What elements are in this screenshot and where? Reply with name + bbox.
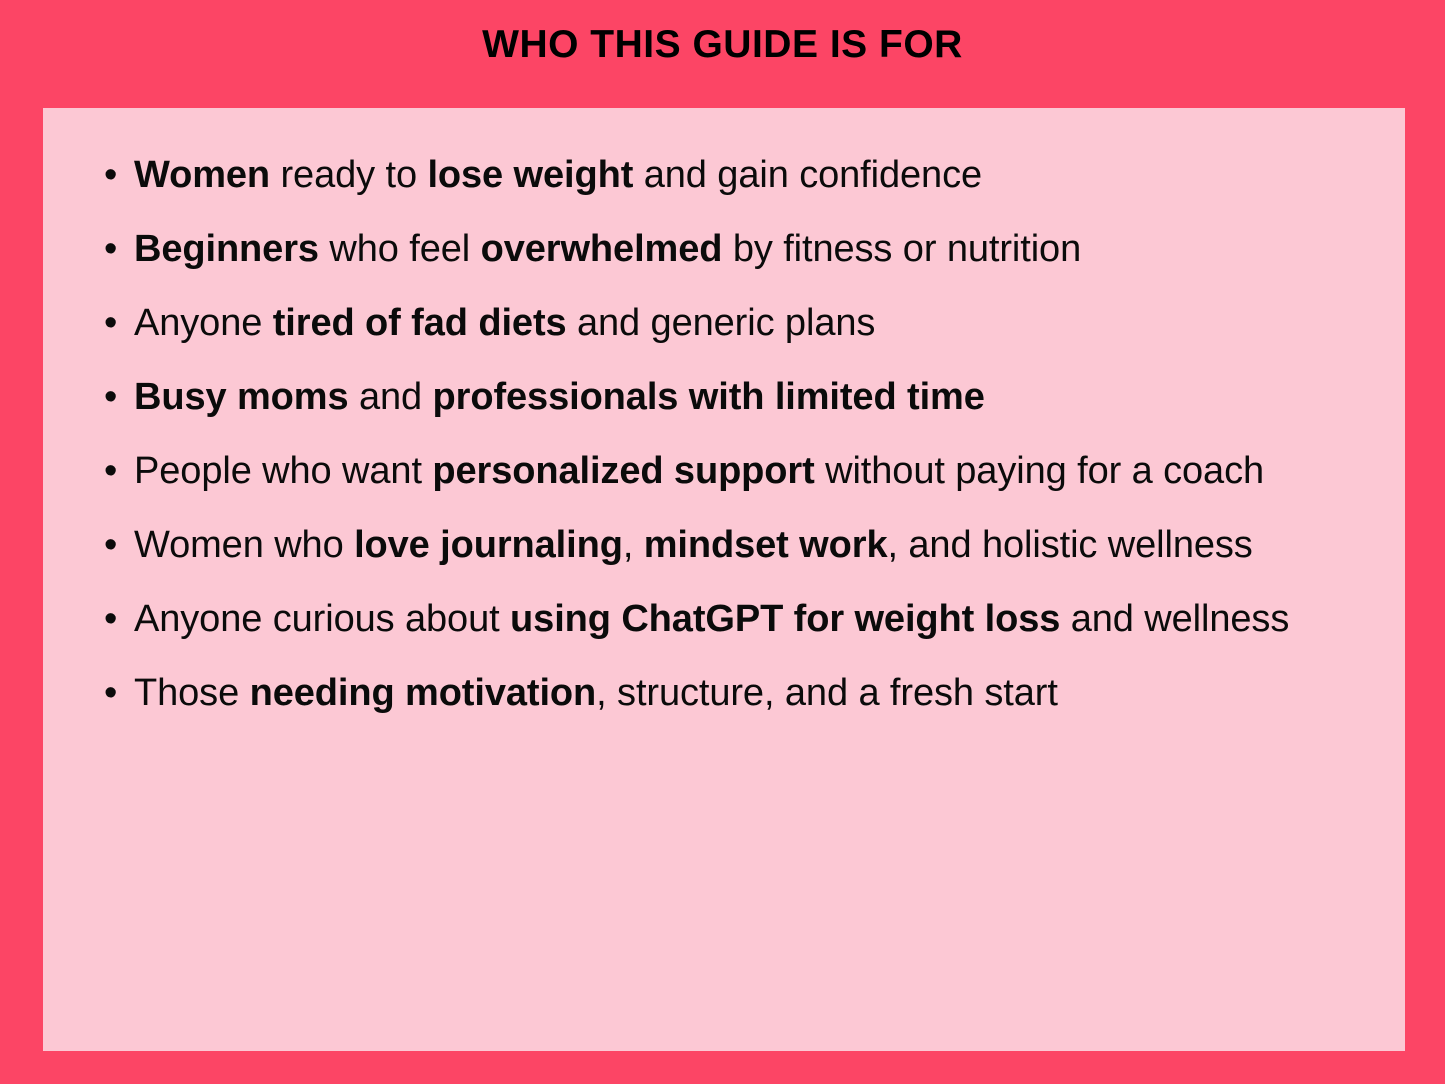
- content-panel: •Women ready to lose weight and gain con…: [43, 108, 1405, 1051]
- emphasis-text: using ChatGPT for weight loss: [510, 598, 1060, 640]
- bullet-point-icon: •: [104, 138, 122, 212]
- audience-bullet-list: •Women ready to lose weight and gain con…: [59, 138, 1389, 730]
- bullet-point-icon: •: [104, 656, 122, 730]
- plain-text: without paying for a coach: [815, 450, 1264, 492]
- list-item-text: Anyone curious about using ChatGPT for w…: [134, 582, 1389, 656]
- plain-text: Anyone: [134, 302, 273, 344]
- bullet-point-icon: •: [104, 434, 122, 508]
- plain-text: ready to: [270, 154, 427, 196]
- bullet-point-icon: •: [104, 582, 122, 656]
- list-item-text: People who want personalized support wit…: [134, 434, 1389, 508]
- emphasis-text: love journaling: [354, 524, 623, 566]
- plain-text: Anyone curious about: [134, 598, 510, 640]
- bullet-point-icon: •: [104, 508, 122, 582]
- list-item-text: Busy moms and professionals with limited…: [134, 360, 1389, 434]
- plain-text: ,: [623, 524, 644, 566]
- plain-text: and wellness: [1060, 598, 1289, 640]
- emphasis-text: mindset work: [644, 524, 888, 566]
- bullet-point-icon: •: [104, 360, 122, 434]
- list-item: •Those needing motivation, structure, an…: [59, 656, 1389, 730]
- emphasis-text: overwhelmed: [481, 228, 723, 270]
- list-item: •Women ready to lose weight and gain con…: [59, 138, 1389, 212]
- emphasis-text: Beginners: [134, 228, 319, 270]
- list-item: •People who want personalized support wi…: [59, 434, 1389, 508]
- plain-text: and: [349, 376, 433, 418]
- emphasis-text: tired of fad diets: [273, 302, 567, 344]
- list-item-text: Women who love journaling, mindset work,…: [134, 508, 1389, 582]
- poster-canvas: WHO THIS GUIDE IS FOR •Women ready to lo…: [0, 0, 1445, 1084]
- plain-text: Those: [134, 672, 250, 714]
- emphasis-text: personalized support: [432, 450, 814, 492]
- emphasis-text: Busy moms: [134, 376, 349, 418]
- plain-text: by fitness or nutrition: [722, 228, 1081, 270]
- plain-text: Women who: [134, 524, 354, 566]
- emphasis-text: professionals with limited time: [433, 376, 985, 418]
- page-title: WHO THIS GUIDE IS FOR: [0, 22, 1445, 68]
- plain-text: , and holistic wellness: [887, 524, 1252, 566]
- emphasis-text: needing motivation: [250, 672, 597, 714]
- list-item-text: Anyone tired of fad diets and generic pl…: [134, 286, 1389, 360]
- list-item-text: Those needing motivation, structure, and…: [134, 656, 1389, 730]
- plain-text: , structure, and a fresh start: [596, 672, 1058, 714]
- plain-text: and gain confidence: [633, 154, 982, 196]
- plain-text: who feel: [319, 228, 481, 270]
- list-item: •Beginners who feel overwhelmed by fitne…: [59, 212, 1389, 286]
- list-item: •Anyone tired of fad diets and generic p…: [59, 286, 1389, 360]
- emphasis-text: Women: [134, 154, 270, 196]
- bullet-point-icon: •: [104, 286, 122, 360]
- list-item-text: Women ready to lose weight and gain conf…: [134, 138, 1389, 212]
- plain-text: and generic plans: [567, 302, 876, 344]
- list-item: •Women who love journaling, mindset work…: [59, 508, 1389, 582]
- emphasis-text: lose weight: [427, 154, 633, 196]
- plain-text: People who want: [134, 450, 432, 492]
- bullet-point-icon: •: [104, 212, 122, 286]
- list-item: •Busy moms and professionals with limite…: [59, 360, 1389, 434]
- list-item-text: Beginners who feel overwhelmed by fitnes…: [134, 212, 1389, 286]
- list-item: •Anyone curious about using ChatGPT for …: [59, 582, 1389, 656]
